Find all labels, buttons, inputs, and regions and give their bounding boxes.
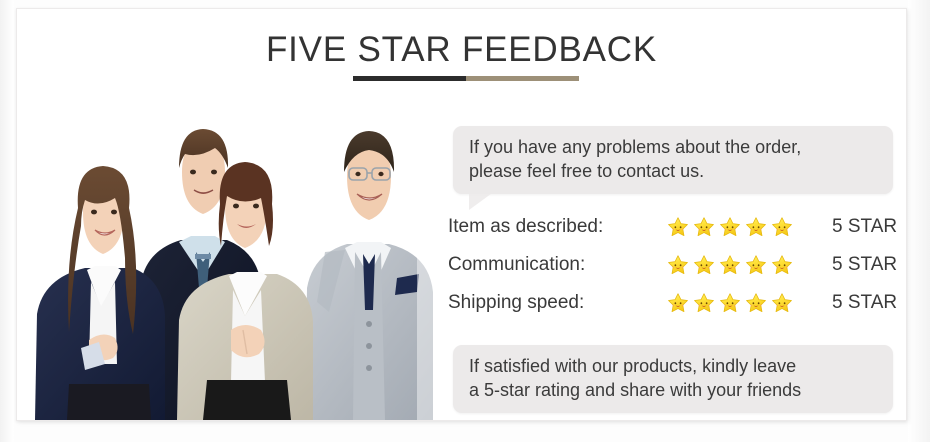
star-icon — [745, 216, 767, 238]
rating-value: 5 STAR — [800, 254, 897, 276]
star-icon — [693, 292, 715, 314]
review-request-line-1: If satisfied with our products, kindly l… — [469, 354, 879, 378]
support-message-bubble: If you have any problems about the order… — [453, 126, 893, 194]
feedback-banner: FIVE STAR FEEDBACK — [0, 0, 930, 442]
star-icon — [719, 292, 741, 314]
ratings-list: Item as described: 5 STAR Communication: — [448, 208, 898, 322]
team-photo-illustration — [29, 102, 439, 420]
star-icon — [745, 292, 767, 314]
rating-stars — [667, 216, 800, 238]
star-icon — [771, 292, 793, 314]
rating-value: 5 STAR — [800, 216, 897, 238]
star-icon — [771, 216, 793, 238]
star-icon — [719, 254, 741, 276]
star-icon — [771, 254, 793, 276]
star-icon — [693, 216, 715, 238]
rating-label: Communication: — [448, 254, 667, 276]
title-underline — [353, 76, 579, 81]
star-icon — [719, 216, 741, 238]
review-request-line-2: a 5-star rating and share with your frie… — [469, 378, 879, 402]
support-message-line-2: please feel free to contact us. — [469, 159, 879, 183]
rating-stars — [667, 292, 800, 314]
star-icon — [667, 216, 689, 238]
rating-label: Item as described: — [448, 216, 667, 238]
star-icon — [745, 254, 767, 276]
rating-row-item-as-described: Item as described: 5 STAR — [448, 208, 898, 246]
star-icon — [693, 254, 715, 276]
title-underline-tan-segment — [466, 76, 579, 81]
content-card: FIVE STAR FEEDBACK — [16, 8, 907, 421]
star-icon — [667, 292, 689, 314]
star-icon — [667, 254, 689, 276]
rating-row-shipping-speed: Shipping speed: 5 STAR — [448, 284, 898, 322]
rating-value: 5 STAR — [800, 292, 897, 314]
rating-row-communication: Communication: 5 STAR — [448, 246, 898, 284]
rating-stars — [667, 254, 800, 276]
rating-label: Shipping speed: — [448, 292, 667, 314]
support-message-line-1: If you have any problems about the order… — [469, 135, 879, 159]
title-underline-dark-segment — [353, 76, 466, 81]
page-title: FIVE STAR FEEDBACK — [17, 30, 906, 70]
review-request-bubble: If satisfied with our products, kindly l… — [453, 345, 893, 413]
team-photo — [29, 102, 439, 420]
